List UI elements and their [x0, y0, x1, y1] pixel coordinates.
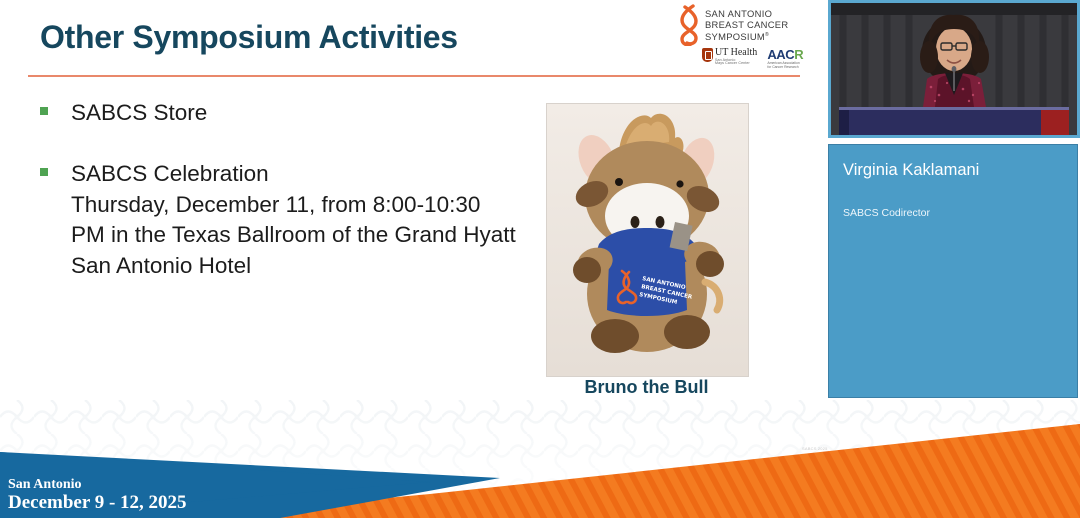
- photo-caption: Bruno the Bull: [546, 377, 747, 398]
- sabcs-logo: SAN ANTONIO BREAST CANCER SYMPOSIUM® UT …: [676, 4, 806, 76]
- logo-wordmark: SAN ANTONIO BREAST CANCER SYMPOSIUM®: [705, 8, 788, 41]
- speaker-name: Virginia Kaklamani: [843, 161, 979, 180]
- footer-dates: December 9 - 12, 2025: [8, 492, 187, 514]
- bullet-square-icon: [40, 107, 48, 115]
- ut-health-logo: UT Health San Antonio Mays Cancer Center: [702, 48, 757, 66]
- aacr-logo: AACR American Association for Cancer Res…: [767, 48, 803, 70]
- video-still-image: [831, 3, 1077, 135]
- slide-title: Other Symposium Activities: [40, 20, 660, 55]
- presentation-viewer: Other Symposium Activities SAN ANTONIO B…: [0, 0, 1080, 518]
- footer-city: San Antonio: [8, 477, 187, 492]
- aacr-sub2: for Cancer Research: [767, 65, 803, 69]
- bullet-text: SABCS Store: [71, 98, 207, 129]
- ut-shield-icon: [702, 48, 713, 62]
- ut-health-sub2: Mays Cancer Center: [715, 62, 757, 66]
- list-item: SABCS Celebration Thursday, December 11,…: [40, 159, 520, 282]
- aacr-name: AACR: [767, 48, 803, 61]
- bruno-the-bull-photo: SAN ANTONIO BREAST CANCER SYMPOSIUM: [546, 103, 749, 377]
- logo-partners: UT Health San Antonio Mays Cancer Center…: [702, 48, 803, 70]
- sabcs-ribbon-icon: [676, 4, 702, 46]
- bullet-list: SABCS Store SABCS Celebration Thursday, …: [40, 98, 520, 312]
- speaker-role: SABCS Codirector: [843, 207, 930, 219]
- bullet-text: SABCS Celebration Thursday, December 11,…: [71, 159, 520, 282]
- list-item: SABCS Store: [40, 98, 520, 129]
- logo-registered-mark: ®: [765, 31, 769, 37]
- logo-primary: SAN ANTONIO BREAST CANCER SYMPOSIUM®: [676, 4, 788, 46]
- speaker-info-card: Virginia Kaklamani SABCS Codirector: [828, 144, 1078, 398]
- speaker-video-feed[interactable]: [828, 0, 1080, 138]
- logo-line-3: SYMPOSIUM: [705, 31, 765, 42]
- logo-line-2: BREAST CANCER: [705, 19, 788, 30]
- logo-line-1: SAN ANTONIO: [705, 8, 788, 19]
- speaker-sidebar: Virginia Kaklamani SABCS Codirector: [828, 0, 1080, 518]
- plush-bull-illustration: SAN ANTONIO BREAST CANCER SYMPOSIUM: [547, 104, 748, 376]
- ut-health-name: UT Health: [715, 48, 757, 59]
- footer-text-block: San Antonio December 9 - 12, 2025: [8, 477, 187, 514]
- bullet-square-icon: [40, 168, 48, 176]
